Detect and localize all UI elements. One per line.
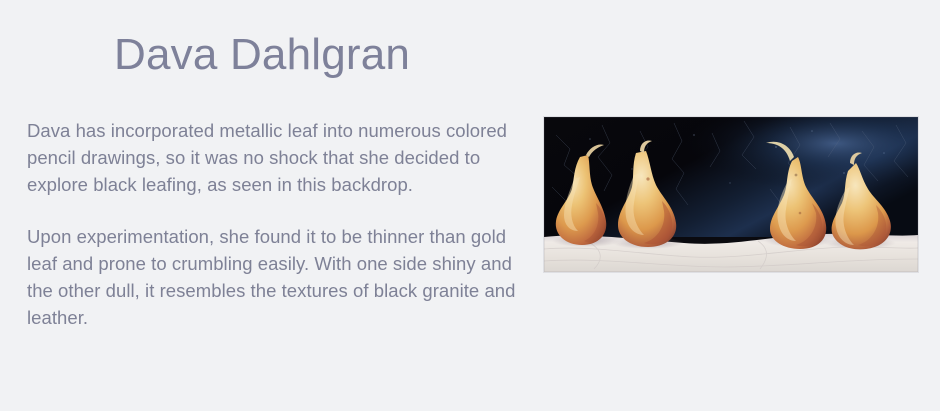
page-title: Dava Dahlgran [114,27,410,83]
description-paragraph-2: Upon experimentation, she found it to be… [27,223,527,331]
slide-page: Dava Dahlgran Dava has incorporated meta… [0,0,940,411]
artwork-illustration [544,117,918,272]
artwork-image [544,117,918,272]
description-column: Dava has incorporated metallic leaf into… [27,117,527,331]
description-paragraph-1: Dava has incorporated metallic leaf into… [27,117,527,198]
